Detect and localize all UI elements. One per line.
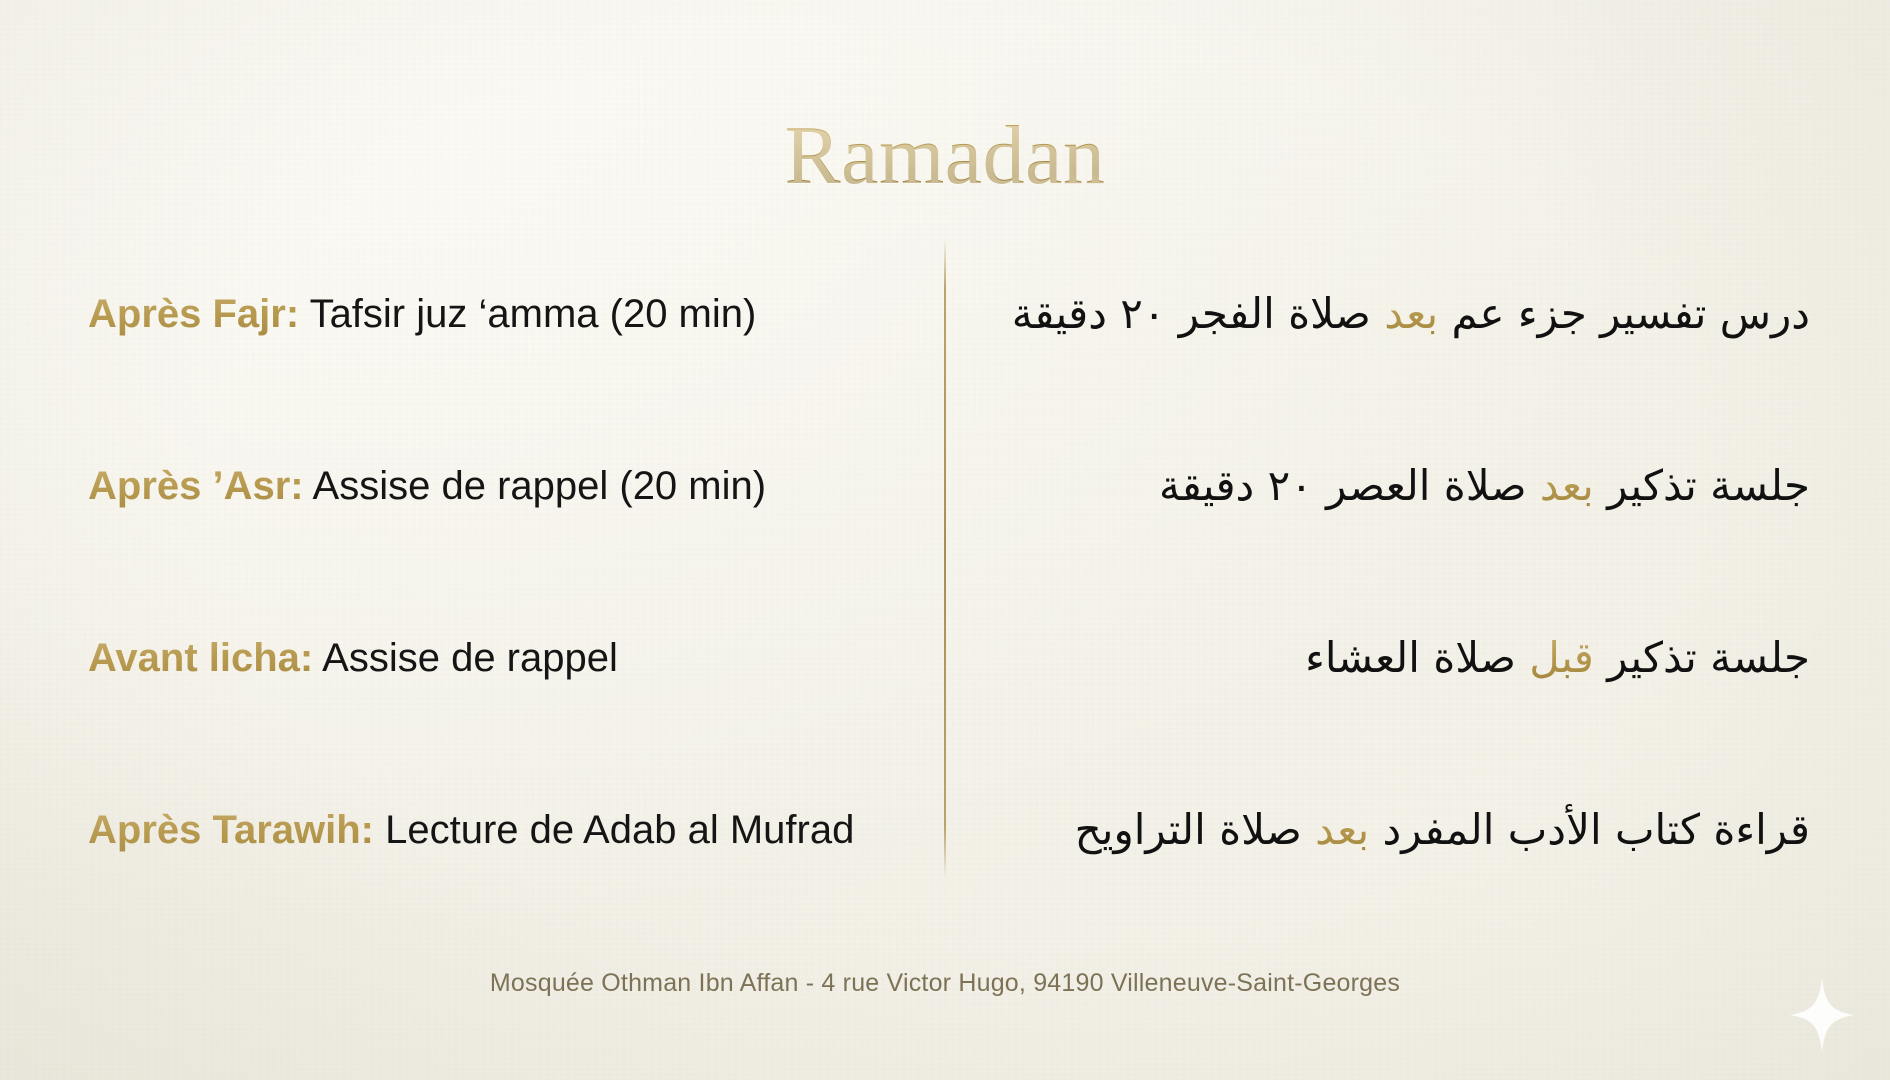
schedule-text-fr: Lecture de Adab al Mufrad <box>385 808 854 852</box>
schedule-row: Avant licha: Assise de rappel جلسة تذكير… <box>0 630 1890 802</box>
schedule-label-fr: Après Fajr: <box>88 292 299 336</box>
schedule-arabic-after: صلاة التراويح <box>1075 805 1316 854</box>
schedule-arabic-highlight: بعد <box>1540 461 1594 510</box>
schedule-row: Après Fajr: Tafsir juz ‘amma (20 min) در… <box>0 286 1890 458</box>
schedule-arabic-after: صلاة العصر ٢٠ دقيقة <box>1159 461 1540 510</box>
schedule-text-fr: Assise de rappel <box>322 636 618 680</box>
schedule-arabic-after: صلاة الفجر ٢٠ دقيقة <box>1012 289 1384 338</box>
schedule-row-arabic: درس تفسير جزء عم بعد صلاة الفجر ٢٠ دقيقة <box>930 282 1810 346</box>
schedule-arabic-highlight: بعد <box>1384 289 1438 338</box>
schedule-arabic-highlight: بعد <box>1315 805 1369 854</box>
schedule-arabic-before: جلسة تذكير <box>1594 461 1810 510</box>
schedule-text-fr: Tafsir juz ‘amma (20 min) <box>310 292 757 336</box>
schedule-arabic-highlight: قبل <box>1529 633 1594 682</box>
schedule-label-fr: Après Tarawih: <box>88 808 374 852</box>
ramadan-schedule-poster: Ramadan Après Fajr: Tafsir juz ‘amma (20… <box>0 0 1890 1080</box>
four-pointed-star-icon <box>1790 978 1854 1052</box>
schedule-row-arabic: جلسة تذكير بعد صلاة العصر ٢٠ دقيقة <box>930 454 1810 518</box>
schedule-arabic-before: درس تفسير جزء عم <box>1438 289 1810 338</box>
title-container: Ramadan <box>0 58 1890 255</box>
schedule-row-french: Après Tarawih: Lecture de Adab al Mufrad <box>88 802 908 858</box>
schedule-row-arabic: جلسة تذكير قبل صلاة العشاء <box>930 626 1810 690</box>
footer-address: Mosquée Othman Ibn Affan - 4 rue Victor … <box>0 969 1890 998</box>
schedule-row: Après ’Asr: Assise de rappel (20 min) جل… <box>0 458 1890 630</box>
schedule-list: Après Fajr: Tafsir juz ‘amma (20 min) در… <box>0 286 1890 974</box>
schedule-row-arabic: قراءة كتاب الأدب المفرد بعد صلاة التراوي… <box>930 798 1810 862</box>
schedule-row: Après Tarawih: Lecture de Adab al Mufrad… <box>0 802 1890 974</box>
schedule-row-french: Avant licha: Assise de rappel <box>88 630 908 686</box>
schedule-text-fr: Assise de rappel (20 min) <box>313 464 767 508</box>
schedule-label-fr: Avant licha: <box>88 636 313 680</box>
schedule-arabic-after: صلاة العشاء <box>1305 633 1529 682</box>
schedule-row-french: Après Fajr: Tafsir juz ‘amma (20 min) <box>88 286 908 342</box>
schedule-row-french: Après ’Asr: Assise de rappel (20 min) <box>88 458 908 514</box>
page-title: Ramadan <box>785 114 1106 198</box>
schedule-label-fr: Après ’Asr: <box>88 464 304 508</box>
schedule-arabic-before: قراءة كتاب الأدب المفرد <box>1369 805 1810 854</box>
schedule-arabic-before: جلسة تذكير <box>1594 633 1810 682</box>
